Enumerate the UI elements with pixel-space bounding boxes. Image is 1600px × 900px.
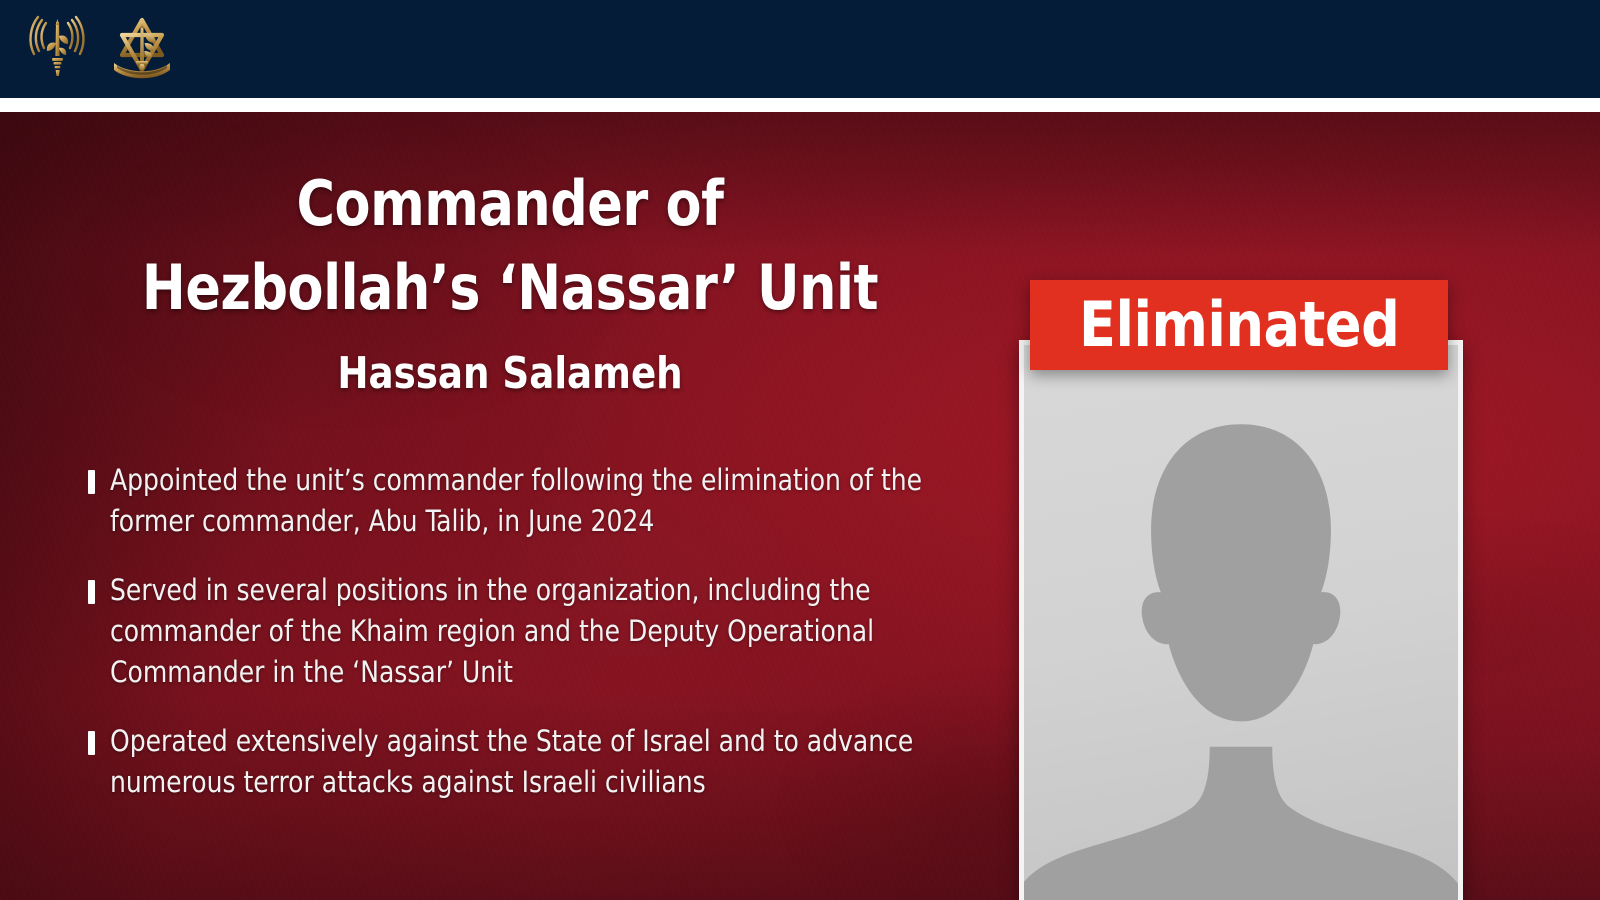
idf-spokesperson-unit-emblem (26, 12, 88, 86)
text-column: Commander of Hezbollah’s ‘Nassar’ Unit H… (60, 162, 960, 803)
bullet-marker-icon (88, 580, 95, 604)
status-badge-label: Eliminated (1079, 294, 1399, 356)
poster-body: Commander of Hezbollah’s ‘Nassar’ Unit H… (0, 112, 1600, 900)
subject-name: Hassan Salameh (87, 340, 933, 408)
page-title-line-2: Hezbollah’s ‘Nassar’ Unit (87, 246, 933, 330)
poster-root: Commander of Hezbollah’s ‘Nassar’ Unit H… (0, 0, 1600, 900)
page-title-line-1: Commander of (87, 162, 933, 246)
idf-emblem (102, 12, 182, 86)
person-silhouette-icon (1024, 348, 1458, 900)
subject-portrait-placeholder (1019, 340, 1463, 900)
bullet-marker-icon (88, 731, 95, 755)
bullet-list: Appointed the unit’s commander following… (60, 460, 960, 803)
status-badge: Eliminated (1030, 280, 1448, 370)
list-item-text: Served in several positions in the organ… (110, 570, 926, 693)
list-item: Served in several positions in the organ… (88, 570, 960, 693)
header-bar (0, 0, 1600, 98)
bullet-marker-icon (88, 470, 95, 494)
list-item-text: Operated extensively against the State o… (110, 721, 926, 803)
page-title: Commander of Hezbollah’s ‘Nassar’ Unit H… (60, 162, 960, 408)
header-emblem-group (0, 12, 182, 86)
list-item: Appointed the unit’s commander following… (88, 460, 960, 542)
list-item-text: Appointed the unit’s commander following… (110, 460, 926, 542)
header-divider (0, 98, 1600, 112)
list-item: Operated extensively against the State o… (88, 721, 960, 803)
